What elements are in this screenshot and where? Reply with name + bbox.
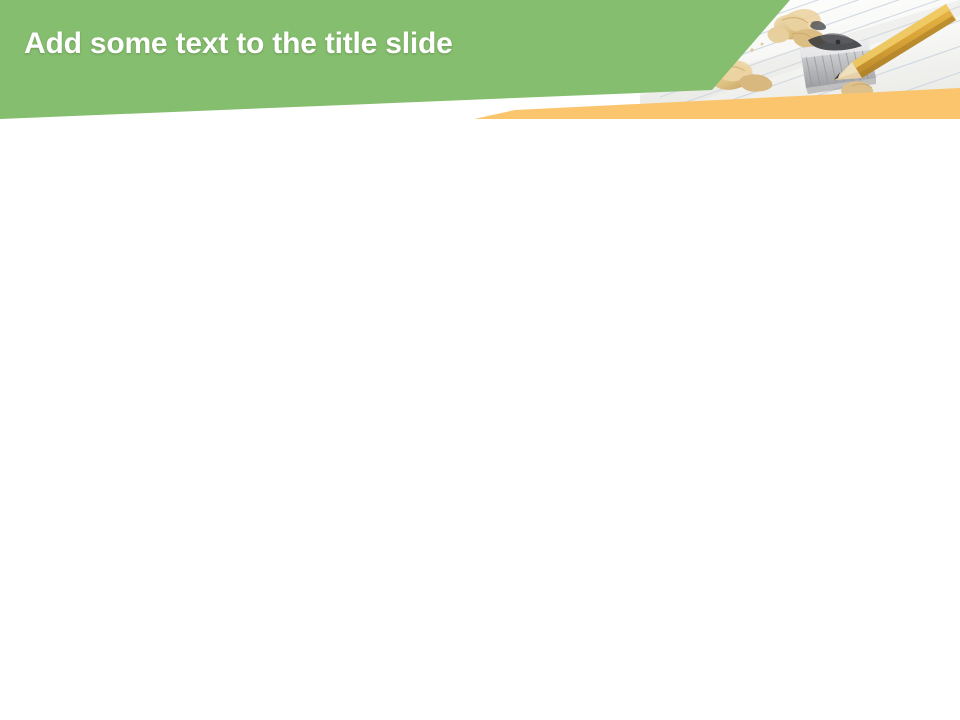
presentation-slide: Add some text to the title slide Replace… bbox=[0, 0, 960, 720]
header-graphics bbox=[0, 0, 960, 132]
slide-content-area[interactable] bbox=[0, 132, 960, 720]
slide-title[interactable]: Add some text to the title slide bbox=[24, 27, 724, 61]
slide-header-banner bbox=[0, 0, 960, 132]
